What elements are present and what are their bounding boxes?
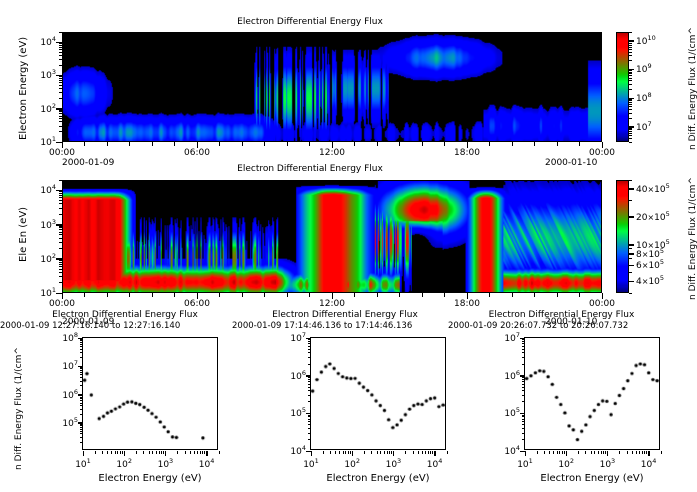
spectrum-1-yminor	[80, 437, 83, 438]
spectrum-1-xtick	[206, 451, 208, 456]
spectrum-2-yminor	[308, 381, 311, 382]
spectrum-3-xminor	[646, 451, 647, 454]
spectrum-1-yminor	[80, 427, 83, 428]
panel-bottom-title: Electron Differential Energy Flux	[0, 164, 620, 174]
panel-bottom-xminor	[354, 293, 355, 297]
spectrum-2-yminor	[308, 424, 311, 425]
panel-bottom-yminor	[59, 264, 63, 265]
spectrum-3-xminor	[642, 451, 643, 454]
panel-bottom-xminor	[467, 293, 468, 297]
panel-top-yminor	[59, 88, 63, 89]
panel-bottom-yminor	[59, 180, 63, 181]
spectrum-3-xtick-label: 102	[550, 457, 582, 470]
spectrum-2-xminor	[371, 451, 372, 454]
panel-top-xminor	[579, 142, 580, 146]
panel-bottom-xtick-label: 12:00	[310, 299, 354, 309]
panel-bottom-xtick-label: 00:00	[40, 299, 84, 309]
spectrum-1-yminor	[80, 368, 83, 369]
spectrum-1-xminor	[95, 451, 96, 454]
panel-top-xtick-label: 18:00	[445, 148, 489, 158]
spectrum-3-yminor	[522, 421, 525, 422]
panel-top-ytick-label: 102	[22, 102, 56, 115]
panel-top-yminor	[59, 49, 63, 50]
panel-bottom-yminor	[59, 266, 63, 267]
spectrum-row-ylabel: n Diff. Energy Flux (1/(cm^	[14, 347, 24, 470]
spectrum-1-xtick-label: 102	[108, 457, 140, 470]
panel-top-cbar-minor	[629, 118, 632, 119]
panel-bottom-colorbar[interactable]	[616, 180, 629, 293]
spectrum-2-yminor	[308, 433, 311, 434]
panel-bottom-xtick-label: 18:00	[445, 299, 489, 309]
panel-bottom-yminor	[59, 248, 63, 249]
spectrum-2-xlabel: Electron Energy (eV)	[310, 473, 446, 484]
spectrum-2-xminor	[447, 451, 448, 454]
spectrum-1-title: Electron Differential Energy Flux	[20, 310, 230, 320]
panel-top-cbar-minor	[629, 133, 632, 134]
panel-bottom-ytick-label: 103	[22, 218, 56, 231]
spectrum-3-yminor	[522, 390, 525, 391]
spectrum-3-subtitle: 2000-01-09 20:26:07.732 to 20:26:07.732	[448, 321, 693, 331]
panel-top-xminor	[219, 142, 220, 146]
spectrum-2-xminor	[418, 451, 419, 454]
spectrum-1-yminor	[80, 385, 83, 386]
spectrum-3-yminor	[522, 377, 525, 378]
spectrum-3-xminor	[639, 451, 640, 454]
spectrum-1-yminor	[80, 405, 83, 406]
panel-bottom-xminor	[129, 293, 130, 297]
panel-top-xtick-label: 00:00	[580, 148, 624, 158]
spectrum-3-yminor	[522, 395, 525, 396]
panel-top-xminor	[152, 142, 153, 146]
spectrum-2-yminor	[308, 357, 311, 358]
panel-bottom-xminor	[242, 293, 243, 297]
spectrum-1-xminor	[120, 451, 121, 454]
panel-bottom-xminor	[399, 293, 400, 297]
spectrum-2-ytick-label: 104	[273, 444, 306, 457]
panel-bottom-xminor	[107, 293, 108, 297]
panel-bottom-xminor	[174, 293, 175, 297]
spectrum-2-xtick	[393, 451, 395, 456]
panel-top-yminor	[59, 111, 63, 112]
panel-bottom-cbar-tick-label: 6×105	[636, 258, 664, 271]
spectrum-1-xtick	[165, 451, 167, 456]
spectrum-2-xminor	[425, 451, 426, 454]
spectrum-2-xminor	[430, 451, 431, 454]
spectrum-3-xminor	[619, 451, 620, 454]
panel-top-xminor	[197, 142, 198, 146]
spectrum-1-yminor	[80, 397, 83, 398]
panel-bottom-yminor	[59, 234, 63, 235]
spectrum-1-xminor	[161, 451, 162, 454]
panel-bottom-cbar-minor	[629, 293, 632, 294]
panel-top-yminor	[59, 82, 63, 83]
panel-top-yminor	[59, 85, 63, 86]
panel-bottom-yminor	[59, 242, 63, 243]
spectrum-3-xminor	[544, 451, 545, 454]
spectrum-3-yminor	[522, 387, 525, 388]
panel-top-cbar-minor	[629, 60, 632, 61]
spectrum-1-yminor	[80, 425, 83, 426]
spectrum-2-xminor	[345, 451, 346, 454]
spectrum-1-yminor	[80, 429, 83, 430]
panel-top-title: Electron Differential Energy Flux	[0, 17, 620, 27]
panel-bottom-yminor	[59, 272, 63, 273]
panel-top-cbar-minor	[629, 49, 632, 50]
spectrum-2-xminor	[391, 451, 392, 454]
spectrum-1-xminor	[177, 451, 178, 454]
spectrum-2-xminor	[330, 451, 331, 454]
panel-top-xminor	[242, 142, 243, 146]
spectrum-1-yminor	[80, 346, 83, 347]
panel-top-cbar-minor	[629, 142, 632, 143]
spectrum-2-xminor	[389, 451, 390, 454]
panel-top-cbar-minor	[629, 138, 632, 139]
spectrum-3-ytick-label: 106	[487, 369, 520, 382]
spectrum-2-xtick-label: 102	[336, 457, 368, 470]
spectrum-2-xminor	[335, 451, 336, 454]
spectrum-2-xminor	[422, 451, 423, 454]
spectrum-2-title: Electron Differential Energy Flux	[240, 310, 450, 320]
spectrum-3-yminor	[522, 416, 525, 417]
panel-top-cbar-minor	[629, 80, 632, 81]
spectrum-3-yminor	[522, 424, 525, 425]
spectrum-2-xminor	[428, 451, 429, 454]
panel-top-cbar-minor	[629, 73, 632, 74]
spectrum-1-xminor	[102, 451, 103, 454]
spectrum-1-xminor	[200, 451, 201, 454]
spectrum-2-xminor	[343, 451, 344, 454]
spectrum-1-xminor	[115, 451, 116, 454]
spectrum-3-xminor	[598, 451, 599, 454]
spectrum-3-yminor	[522, 349, 525, 350]
panel-top-xminor	[107, 142, 108, 146]
panel-bottom-xminor	[579, 293, 580, 297]
panel-bottom-yminor	[59, 229, 63, 230]
panel-top-cbar-minor	[629, 32, 632, 33]
spectrum-1-yminor	[80, 340, 83, 341]
panel-bottom-xminor	[197, 293, 198, 297]
panel-top-xminor	[467, 142, 468, 146]
spectrum-2-yminor	[308, 341, 311, 342]
spectrum-1-xminor	[107, 451, 108, 454]
panel-top-yminor	[59, 47, 63, 48]
panel-bottom-xtick-label: 00:00	[580, 299, 624, 309]
spectrum-3-yminor	[522, 415, 525, 416]
panel-top-cbar-tick-label: 109	[636, 62, 652, 75]
spectrum-2-yminor	[308, 439, 311, 440]
spectrum-2-xminor	[432, 451, 433, 454]
panel-top-cbar-minor	[629, 45, 632, 46]
spectrum-3-yminor	[522, 357, 525, 358]
panel-bottom-cbar-tick-label: 40×105	[636, 182, 670, 195]
panel-top-yminor	[59, 131, 63, 132]
panel-bottom-yminor	[59, 203, 63, 204]
spectrum-2-ytick-label: 105	[273, 406, 306, 419]
spectrum-2-xminor	[364, 451, 365, 454]
spectrum-1-yminor	[80, 442, 83, 443]
spectrum-1-xminor	[111, 451, 112, 454]
panel-bottom-xminor	[602, 293, 603, 297]
panel-top-yminor	[59, 55, 63, 56]
panel-bottom-yminor	[59, 276, 63, 277]
panel-bottom-yminor	[59, 238, 63, 239]
panel-bottom-yminor	[59, 260, 63, 261]
panel-bottom-yminor	[59, 200, 63, 201]
panel-top-cbar-minor	[629, 89, 632, 90]
spectrum-2-xminor	[348, 451, 349, 454]
spectrum-2-yminor	[308, 349, 311, 350]
panel-top-xminor	[444, 142, 445, 146]
panel-bottom-xminor	[84, 293, 85, 297]
panel-top-cbar-minor	[629, 109, 632, 110]
spectrum-2-xminor	[323, 451, 324, 454]
spectrum-2-yminor	[308, 428, 311, 429]
panel-bottom-xminor	[534, 293, 535, 297]
spectrum-2-yminor	[308, 377, 311, 378]
panel-top-xminor	[62, 142, 63, 146]
spectrum-2-xtick-label: 101	[295, 457, 327, 470]
panel-top-cbar-minor	[629, 100, 632, 101]
panel-top-cbar-minor	[629, 78, 632, 79]
panel-bottom-cbar-minor	[629, 188, 632, 189]
spectrum-2-xminor	[387, 451, 388, 454]
panel-top-cbar-tick-label: 108	[636, 91, 652, 104]
spectrum-1-xtick	[124, 451, 126, 456]
spectrum-2-yminor	[308, 343, 311, 344]
panel-top-cbar-minor	[629, 84, 632, 85]
spectrum-2-xminor	[339, 451, 340, 454]
spectrum-1-ytick-label: 107	[45, 359, 78, 372]
panel-bottom-plot-area[interactable]	[62, 180, 602, 293]
panel-bottom-cbar-minor	[629, 281, 632, 282]
spectrum-3-yminor	[522, 381, 525, 382]
spectrum-3-title: Electron Differential Energy Flux	[454, 310, 669, 320]
spectrum-1-yminor	[80, 409, 83, 410]
panel-top-yminor	[59, 78, 63, 79]
panel-bottom-cbar-minor	[629, 216, 632, 217]
panel-bottom-yminor	[59, 262, 63, 263]
panel-top-cbar-minor	[629, 104, 632, 105]
spectrum-3-xminor	[632, 451, 633, 454]
spectrum-3-xtick-label: 101	[509, 457, 541, 470]
panel-top-yminor	[59, 59, 63, 60]
spectrum-2-ytick-label: 106	[273, 369, 306, 382]
panel-top-ytick-label: 101	[22, 135, 56, 148]
panel-top-cbar-minor	[629, 106, 632, 107]
panel-bottom-yminor	[59, 195, 63, 196]
spectrum-3-xminor	[562, 451, 563, 454]
panel-top-yminor	[59, 45, 63, 46]
panel-top-xtick-label: 12:00	[310, 148, 354, 158]
panel-top-cbar-minor	[629, 99, 632, 100]
spectrum-1-yminor	[80, 398, 83, 399]
spectrum-1-xminor	[219, 451, 220, 454]
panel-bottom-cbar-minor	[629, 244, 632, 245]
panel-bottom-yminor	[59, 197, 63, 198]
spectrum-3-yminor	[522, 343, 525, 344]
spectrum-3-ytick-label: 105	[487, 406, 520, 419]
panel-bottom-xtick-label: 06:00	[175, 299, 219, 309]
spectrum-1-yminor	[80, 395, 83, 396]
spectrum-3-yminor	[522, 384, 525, 385]
spectrum-2-yminor	[308, 390, 311, 391]
panel-top-xminor	[354, 142, 355, 146]
panel-top-cbar-tick-label: 1010	[636, 34, 656, 47]
panel-bottom-yminor	[59, 226, 63, 227]
panel-top-cbar-minor	[629, 41, 632, 42]
spectrum-3-ytick-label: 107	[487, 331, 520, 344]
panel-bottom-xminor	[62, 293, 63, 297]
spectrum-1-ytick-label: 108	[45, 331, 78, 344]
spectrum-1-plot-area[interactable]	[82, 337, 218, 450]
spectrum-3-xminor	[553, 451, 554, 454]
spectrum-2-yminor	[308, 421, 311, 422]
panel-top-yminor	[59, 43, 63, 44]
spectrum-1-yminor	[80, 367, 83, 368]
panel-bottom-yaxis	[0, 180, 62, 293]
panel-top-cbar-minor	[629, 128, 632, 129]
spectrum-2-xminor	[384, 451, 385, 454]
panel-bottom-xminor	[219, 293, 220, 297]
panel-top-cbar-minor	[629, 55, 632, 56]
spectrum-3-xminor	[549, 451, 550, 454]
spectrum-1-xminor	[190, 451, 191, 454]
spectrum-2-yminor	[308, 346, 311, 347]
spectrum-3-plot-area[interactable]	[524, 337, 660, 450]
spectrum-1-xminor	[152, 451, 153, 454]
spectrum-3-xtick	[607, 451, 609, 456]
spectrum-1-yminor	[80, 403, 83, 404]
panel-top-yminor	[59, 65, 63, 66]
spectrum-2-yminor	[308, 379, 311, 380]
panel-top-xminor	[332, 142, 333, 146]
spectrum-3-yminor	[522, 419, 525, 420]
spectrum-1-yminor	[80, 352, 83, 353]
spectrum-3-xtick	[525, 451, 527, 456]
spectrum-3-xtick	[648, 451, 650, 456]
panel-top-plot-area[interactable]	[62, 32, 602, 142]
panel-bottom-xminor	[287, 293, 288, 297]
panel-bottom-cbar-minor	[629, 248, 632, 249]
spectrum-1-yminor	[80, 357, 83, 358]
panel-top-xminor	[399, 142, 400, 146]
spectrum-3-yminor	[522, 433, 525, 434]
spectrum-1-xminor	[204, 451, 205, 454]
spectrum-3-xminor	[564, 451, 565, 454]
panel-top-yminor	[59, 110, 63, 111]
panel-top-xtick-label: 06:00	[175, 148, 219, 158]
panel-top-yminor	[59, 121, 63, 122]
panel-bottom-xminor	[377, 293, 378, 297]
spectrum-1-xtick	[83, 451, 85, 456]
spectrum-1-xtick-label: 101	[67, 457, 99, 470]
panel-top-xminor	[557, 142, 558, 146]
spectrum-3-xlabel: Electron Energy (eV)	[524, 473, 660, 484]
spectrum-1-xminor	[202, 451, 203, 454]
spectrum-1-yminor	[80, 342, 83, 343]
panel-top-xminor	[422, 142, 423, 146]
spectrum-2-yminor	[308, 339, 311, 340]
spectrum-2-yminor	[308, 384, 311, 385]
spectrum-3-xtick-label: 104	[633, 457, 665, 470]
panel-bottom-yminor	[59, 208, 63, 209]
spectrum-1-yminor	[80, 344, 83, 345]
spectrum-2-yminor	[308, 352, 311, 353]
spectrum-1-yminor	[80, 349, 83, 350]
panel-bottom-ytick-label: 104	[22, 183, 56, 196]
panel-top-cbar-minor	[629, 135, 632, 136]
spectrum-1-yminor	[80, 339, 83, 340]
panel-top-cbar-minor	[629, 75, 632, 76]
spectrum-2-xminor	[350, 451, 351, 454]
panel-top-cbar-minor	[629, 129, 632, 130]
spectrum-2-xtick-label: 103	[377, 457, 409, 470]
spectrum-1-xlabel: Electron Energy (eV)	[82, 473, 218, 484]
spectrum-2-ytick-label: 107	[273, 331, 306, 344]
spectrum-1-xminor	[117, 451, 118, 454]
spectrum-3-xminor	[559, 451, 560, 454]
panel-top-yminor	[59, 32, 63, 33]
spectrum-1-ytick-label: 106	[45, 388, 78, 401]
spectrum-1-yminor	[80, 374, 83, 375]
panel-top-xminor	[602, 142, 603, 146]
panel-bottom-cbar-tick-label: 4×105	[636, 274, 664, 287]
panel-top-xminor	[174, 142, 175, 146]
panel-bottom-yminor	[59, 191, 63, 192]
panel-top-cbar-minor	[629, 72, 632, 73]
spectrum-1-xminor	[159, 451, 160, 454]
spectrum-2-yminor	[308, 387, 311, 388]
panel-bottom-yminor	[59, 227, 63, 228]
panel-top-colorbar-label: n Diff. Energy Flux (1/(cm^	[688, 27, 697, 150]
panel-bottom-cbar-minor	[629, 180, 632, 181]
spectrum-3-xminor	[605, 451, 606, 454]
panel-bottom-cbar-minor	[629, 265, 632, 266]
spectrum-3-xminor	[601, 451, 602, 454]
spectrum-3-xtick-label: 103	[591, 457, 623, 470]
panel-top-cbar-minor	[629, 131, 632, 132]
spectrum-1-xminor	[185, 451, 186, 454]
panel-top-ytick-label: 103	[22, 68, 56, 81]
spectrum-3-yminor	[522, 352, 525, 353]
panel-bottom-cbar-minor	[629, 258, 632, 259]
panel-top-xminor	[129, 142, 130, 146]
panel-top-ytick-label: 104	[22, 35, 56, 48]
panel-bottom-xminor	[444, 293, 445, 297]
panel-bottom-xminor	[512, 293, 513, 297]
panel-top-yaxis	[0, 32, 62, 142]
panel-bottom-xminor	[422, 293, 423, 297]
spectrum-2-plot-area[interactable]	[310, 337, 446, 450]
panel-top-cbar-minor	[629, 43, 632, 44]
panel-top-xtick-label: 00:00	[40, 148, 84, 158]
panel-bottom-cbar-tick-label: 20×105	[636, 210, 670, 223]
panel-bottom-cbar-minor	[629, 272, 632, 273]
spectrum-3-yminor	[522, 364, 525, 365]
spectrum-2-xminor	[380, 451, 381, 454]
panel-bottom-cbar-minor	[629, 200, 632, 201]
panel-top-xminor	[309, 142, 310, 146]
spectrum-2-yminor	[308, 416, 311, 417]
panel-bottom-xminor	[332, 293, 333, 297]
spectrum-3-yminor	[522, 401, 525, 402]
panel-top-yminor	[59, 126, 63, 127]
spectrum-1-xminor	[197, 451, 198, 454]
spectrum-3-ytick-label: 104	[487, 444, 520, 457]
spectrum-1-yminor	[80, 381, 83, 382]
panel-top-yminor	[59, 116, 63, 117]
panel-top-colorbar[interactable]	[616, 32, 629, 142]
